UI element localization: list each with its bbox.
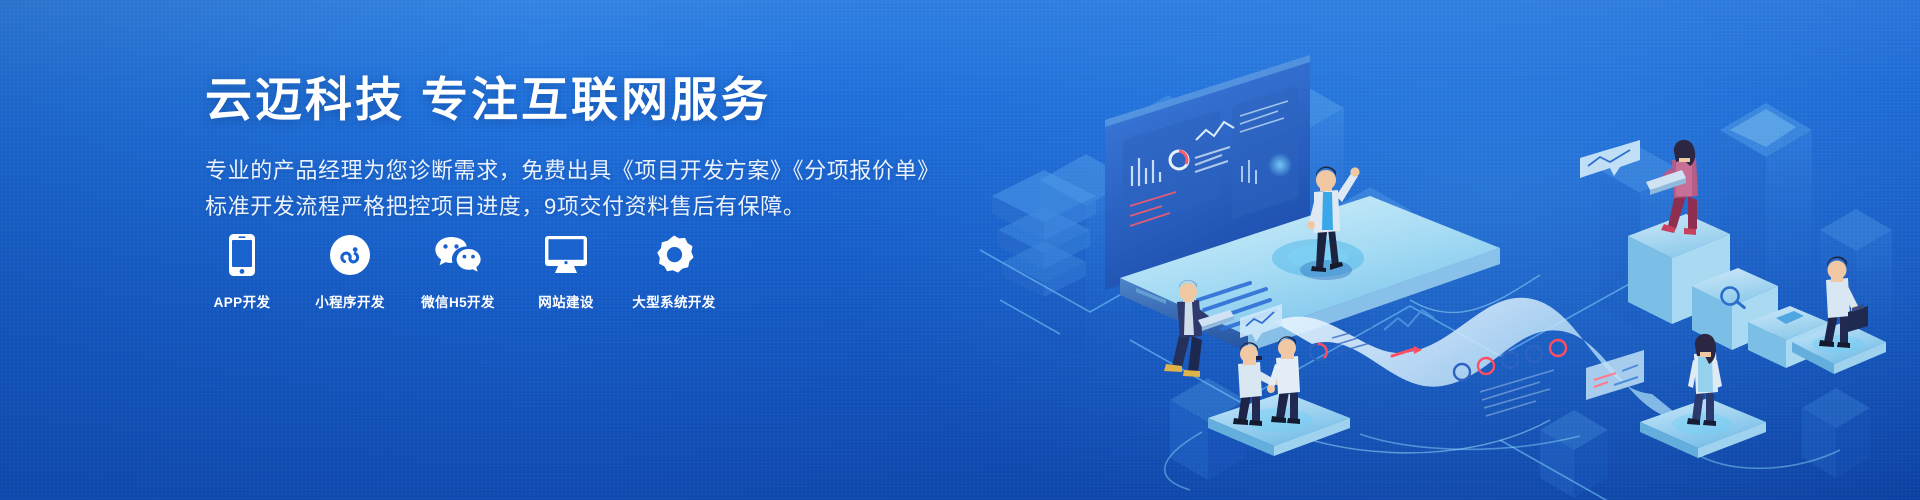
service-label: 网站建设: [538, 291, 594, 311]
page-title: 云迈科技 专注互联网服务: [205, 72, 905, 127]
mobile-phone-icon: [229, 232, 255, 278]
subtitle-line-1: 专业的产品经理为您诊断需求，免费出具《项目开发方案》《分项报价单》: [205, 153, 905, 189]
mini-program-icon: [330, 232, 370, 278]
promo-banner: 云迈科技 专注互联网服务 专业的产品经理为您诊断需求，免费出具《项目开发方案》《…: [0, 0, 1920, 500]
monitor-icon: [545, 232, 587, 278]
hero-illustration: [940, 0, 1920, 500]
service-item-wechat-h5[interactable]: 微信H5开发: [421, 232, 495, 311]
service-label: 大型系统开发: [632, 291, 715, 311]
service-label: 微信H5开发: [421, 291, 495, 311]
server-stack-icon: [992, 170, 1096, 297]
service-item-miniprogram[interactable]: 小程序开发: [313, 232, 387, 311]
gear-icon: [654, 232, 694, 278]
standing-woman: [1640, 334, 1766, 458]
service-icon-row: APP开发 小程序开发: [205, 232, 711, 311]
isometric-scene-svg: [940, 0, 1920, 500]
service-item-large-system[interactable]: 大型系统开发: [637, 232, 711, 311]
copy-block: 云迈科技 专注互联网服务 专业的产品经理为您诊断需求，免费出具《项目开发方案》《…: [205, 72, 905, 225]
service-label: 小程序开发: [315, 291, 385, 311]
service-item-website[interactable]: 网站建设: [529, 232, 603, 311]
service-item-app[interactable]: APP开发: [205, 232, 279, 311]
wechat-icon: [435, 232, 481, 278]
subtitle-line-2: 标准开发流程严格把控项目进度，9项交付资料售后有保障。: [205, 189, 905, 225]
service-label: APP开发: [214, 291, 271, 311]
